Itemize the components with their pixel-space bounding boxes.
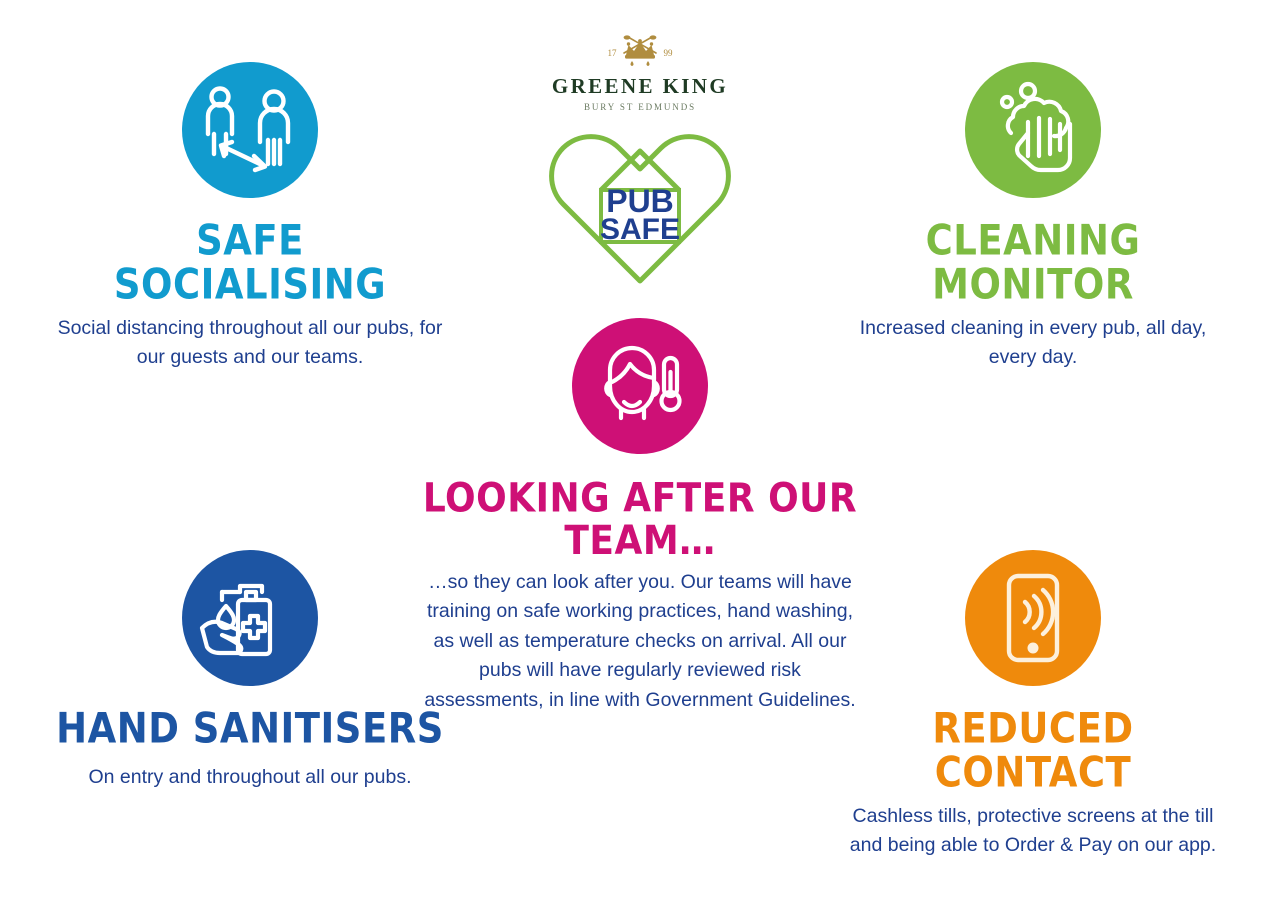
pub-safe-poster: 17 99 GREENE KING BURY ST EDMUNDS PUB SA… bbox=[0, 0, 1280, 900]
sanitiser-bottle-hand-icon bbox=[198, 566, 302, 670]
panel-title: SAFE SOCIALISING bbox=[55, 220, 445, 307]
greene-king-brand-block: 17 99 GREENE KING BURY ST EDMUNDS PUB SA… bbox=[505, 34, 775, 295]
pub-safe-line-2: SAFE bbox=[600, 213, 680, 246]
panel-cleaning-monitor: CLEANING MONITOR Increased cleaning in e… bbox=[838, 62, 1228, 373]
contactless-phone-icon bbox=[981, 566, 1085, 670]
crown-icon: 17 99 bbox=[580, 34, 700, 68]
face-thermometer-icon bbox=[588, 334, 692, 438]
panel-reduced-contact: REDUCED CONTACT Cashless tills, protecti… bbox=[838, 550, 1228, 861]
panel-looking-after-our-team: LOOKING AFTER OUR TEAM… …so they can loo… bbox=[420, 318, 860, 716]
panel-title: HAND SANITISERS bbox=[55, 708, 445, 752]
brand-name: GREENE KING bbox=[505, 74, 775, 99]
panel-body: Increased cleaning in every pub, all day… bbox=[838, 314, 1228, 373]
panel-title: CLEANING MONITOR bbox=[838, 220, 1228, 307]
hand-washing-suds-icon bbox=[981, 78, 1085, 182]
crown-year-left: 17 bbox=[608, 48, 618, 58]
panel-title: LOOKING AFTER OUR TEAM… bbox=[420, 478, 860, 563]
panel-hand-sanitisers: HAND SANITISERS On entry and throughout … bbox=[55, 550, 445, 792]
safe-socialising-badge bbox=[182, 62, 318, 198]
panel-body: …so they can look after you. Our teams w… bbox=[420, 568, 860, 716]
phone-home-button bbox=[1028, 643, 1039, 654]
looking-after-badge bbox=[572, 318, 708, 454]
reduced-contact-badge bbox=[965, 550, 1101, 686]
cleaning-monitor-badge bbox=[965, 62, 1101, 198]
pub-safe-heart-logo: PUB SAFE bbox=[545, 118, 735, 290]
panel-title: REDUCED CONTACT bbox=[838, 708, 1228, 795]
crown-year-right: 99 bbox=[664, 48, 674, 58]
panel-safe-socialising: SAFE SOCIALISING Social distancing throu… bbox=[55, 62, 445, 373]
panel-body: Social distancing throughout all our pub… bbox=[55, 314, 445, 373]
hand-sanitisers-badge bbox=[182, 550, 318, 686]
panel-body: On entry and throughout all our pubs. bbox=[55, 763, 445, 793]
panel-body: Cashless tills, protective screens at th… bbox=[838, 802, 1228, 861]
brand-subtitle: BURY ST EDMUNDS bbox=[505, 102, 775, 112]
social-distancing-icon bbox=[198, 78, 302, 182]
